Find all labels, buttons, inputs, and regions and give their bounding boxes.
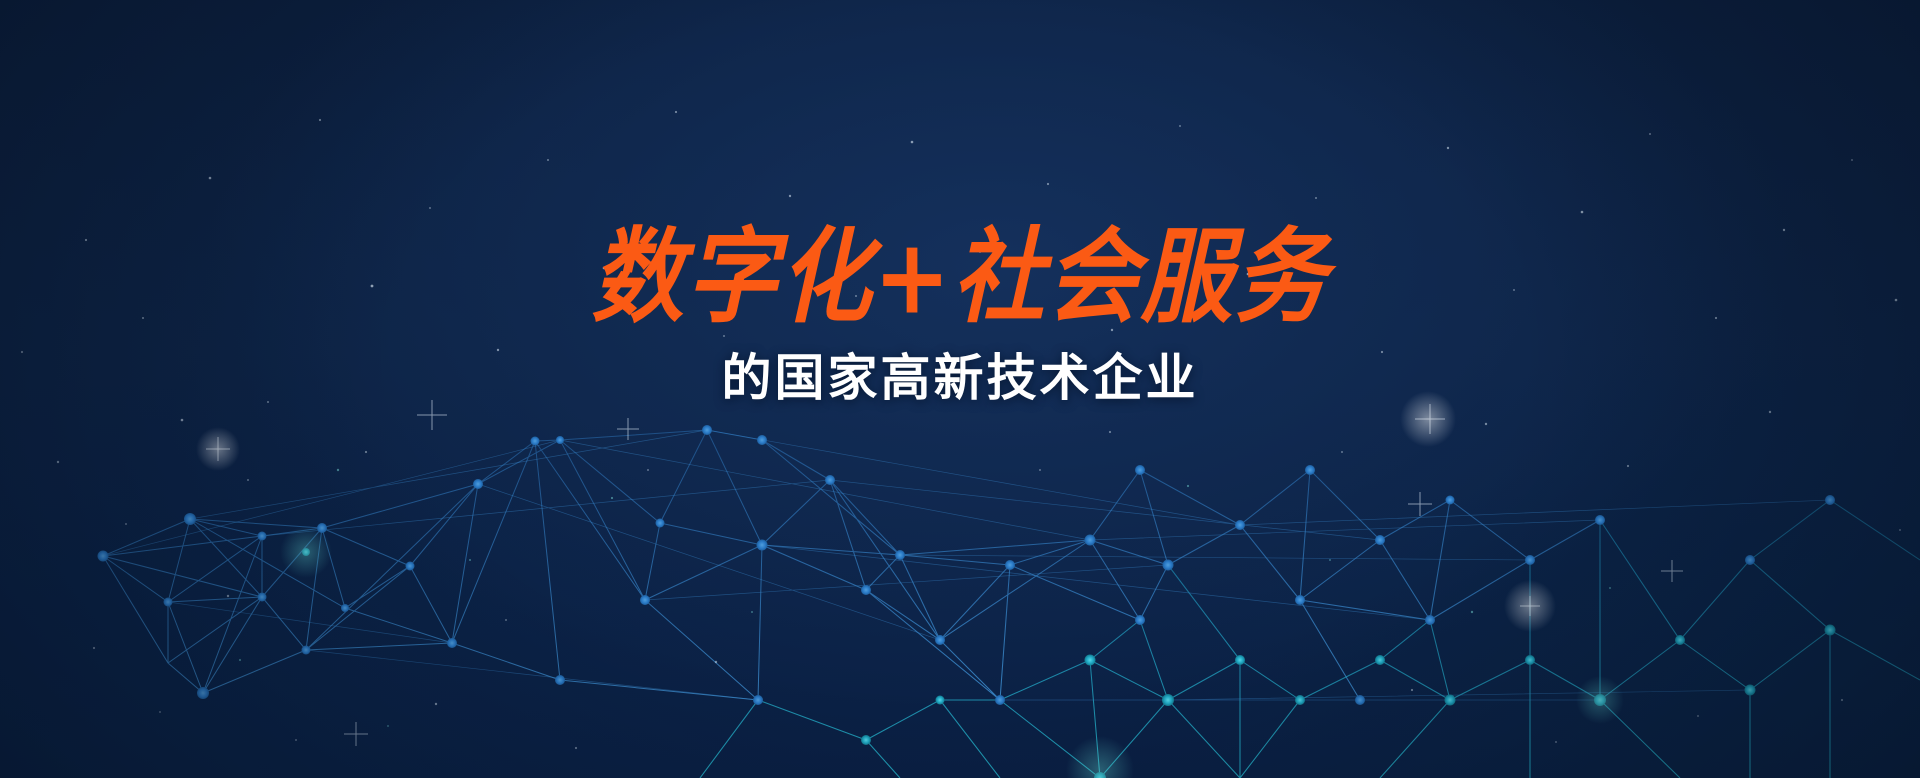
hero-banner: 数字化+社会服务 的国家高新技术企业	[0, 0, 1920, 778]
page-subtitle: 的国家高新技术企业	[0, 338, 1920, 410]
page-title: 数字化+社会服务	[0, 225, 1920, 330]
